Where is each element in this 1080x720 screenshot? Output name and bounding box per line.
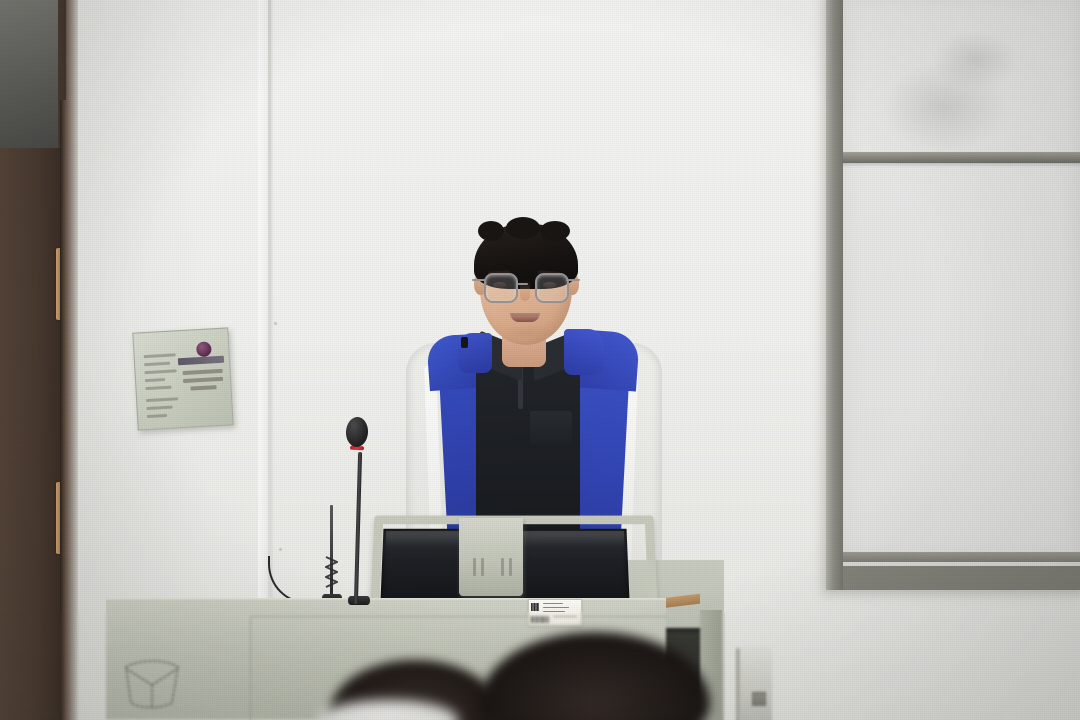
hair-tuft-center [506,217,540,239]
sticker-text-line [543,603,563,604]
whiteboard-left-post [826,0,843,590]
plaque-text-line [147,406,173,410]
hair-tuft-left [478,221,504,241]
bracket-slot-left [473,558,476,576]
whiteboard-erase-smudge-2 [930,30,1020,90]
eyeglasses-temple-left [472,279,486,281]
door-transom-glass [0,0,58,152]
asset-inventory-sticker [528,599,582,626]
jacket-hood-right [564,329,604,375]
presenter-mouth [510,313,540,322]
zipper-pull-icon [461,337,468,348]
bracket-slot-left2 [481,558,484,576]
sticker-barcode [531,616,549,623]
presenter-chin-shadow [500,325,552,339]
plaque-subtitle-2 [183,377,223,383]
perforated-vent-logo-icon [120,655,184,711]
plaque-title-text [178,356,224,366]
whiteboard-bottom-rail [836,552,1080,562]
plaque-text-line [146,397,178,401]
wall-mark-lower [279,548,282,551]
plaque-text-line [145,378,165,382]
plaque-subtitle-1 [183,369,223,375]
monitor-hinge-bracket [459,518,523,596]
presenter-nose [520,281,530,301]
shirt-chest-pocket [530,411,572,445]
wall-service-panel[interactable] [740,648,772,720]
plaque-text-line [144,362,170,366]
eyeglasses-temple-right [566,279,580,281]
wall-socket-icon[interactable] [752,692,766,706]
hair-tuft-right [540,221,570,241]
plaque-text-line [145,386,171,390]
wall-mark-upper [274,322,277,325]
sticker-text-line [553,616,577,617]
sticker-text-line [543,611,565,612]
wall-pillar-seam [268,0,271,650]
eyeglasses-lens-left [484,273,518,303]
eyeglasses-lens-right [535,273,569,303]
door-panel [0,148,60,720]
antenna-coil-icon [325,555,338,589]
plaque-subtitle-3 [190,385,216,390]
plaque-text-line [144,353,176,357]
institution-seal-icon [196,341,212,357]
microphone-base [348,596,370,605]
qr-code-icon [531,603,539,611]
bracket-slot-right2 [509,558,512,576]
whiteboard-divider-rail [836,152,1080,163]
bracket-slot-right [501,558,504,576]
plaque-text-line [147,414,167,418]
lecture-hall-photo [0,0,1080,720]
antenna-coil [325,555,338,589]
door-frame-edge [66,0,78,720]
plaque-text-line [145,369,177,373]
wall-plaque [132,327,233,430]
sticker-text-line [543,607,569,608]
vent-logo-svg [120,655,184,711]
